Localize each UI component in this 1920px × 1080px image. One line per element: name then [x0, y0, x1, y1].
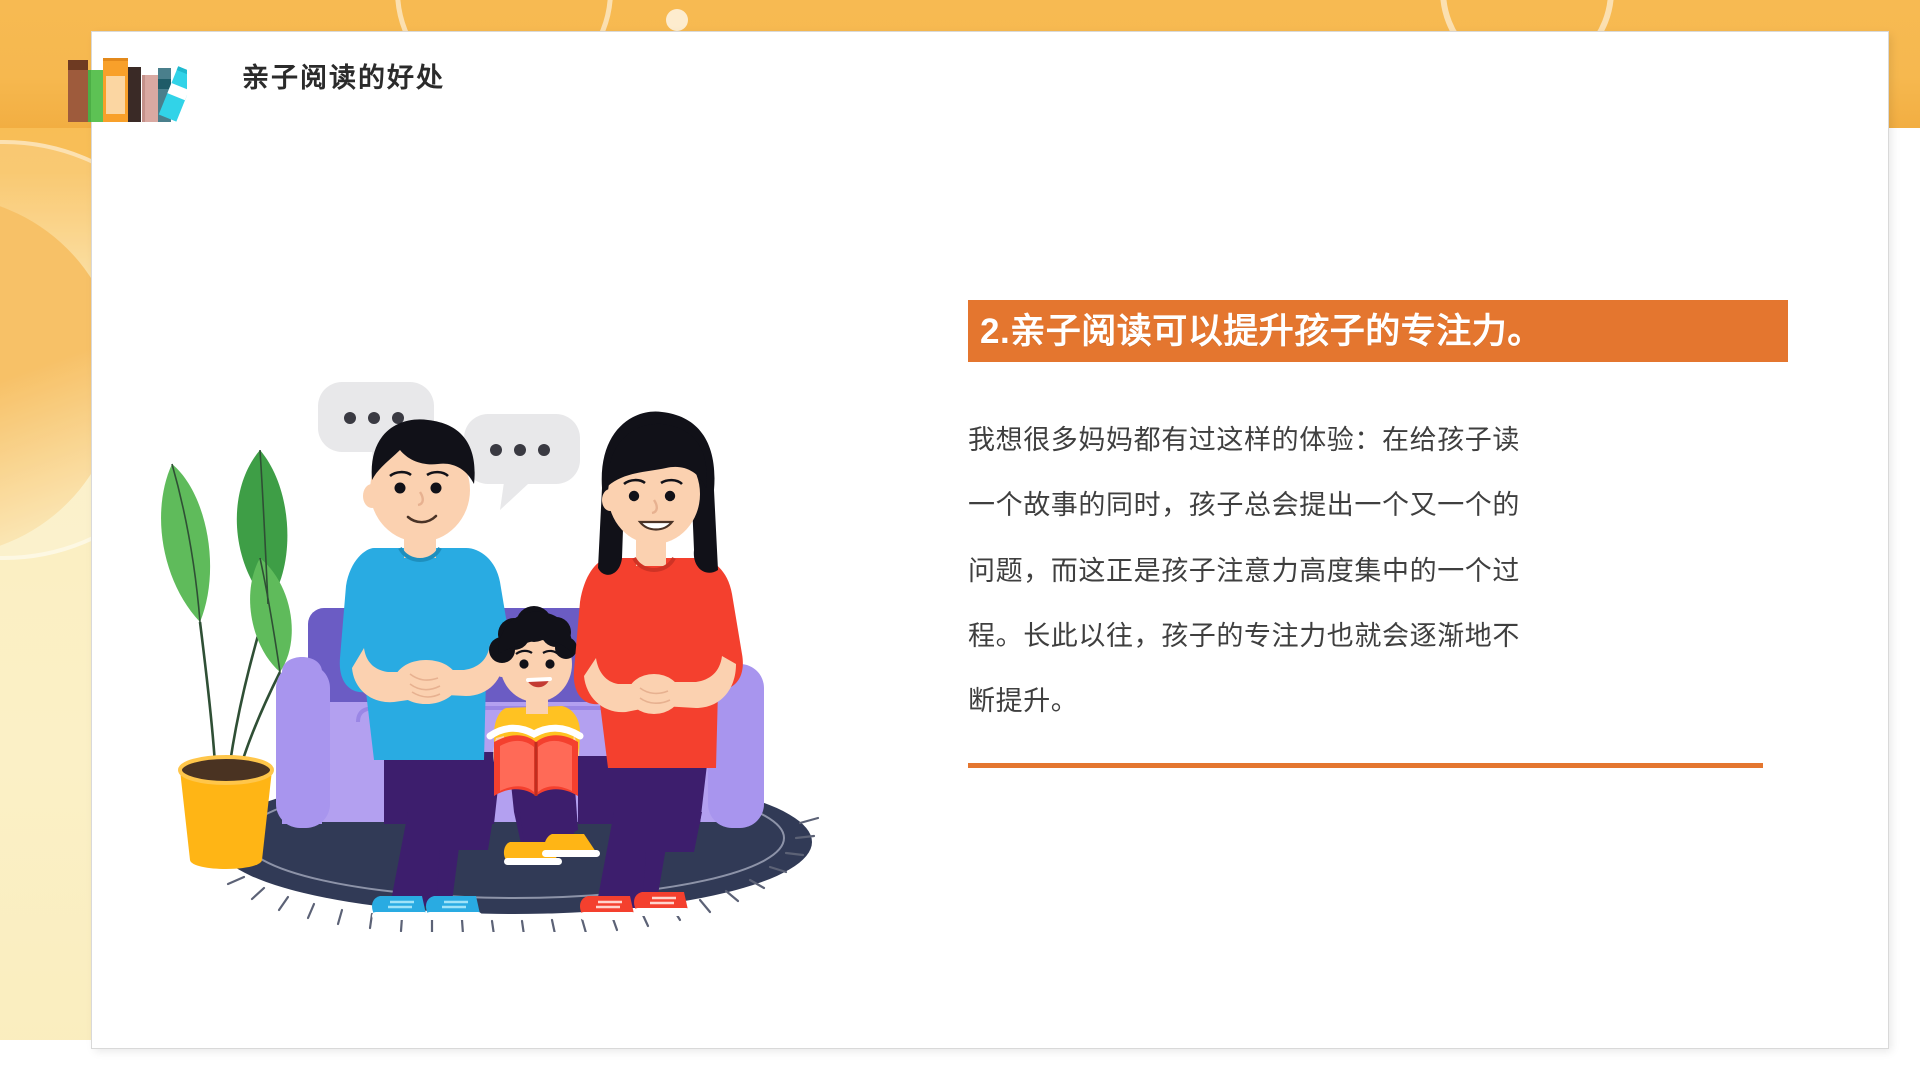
headline-text: 2.亲子阅读可以提升孩子的专注力。 — [980, 314, 1543, 349]
slide-content-card: 亲子阅读的好处 — [92, 32, 1888, 1048]
stack-of-books-icon — [59, 48, 187, 128]
presentation-slide: 亲子阅读的好处 — [0, 0, 1920, 1080]
left-decorative-strip — [0, 0, 92, 1080]
body-line: 我想很多妈妈都有过这样的体验：在给孩子读 — [968, 408, 1763, 473]
headline-banner: 2.亲子阅读可以提升孩子的专注力。 — [968, 300, 1788, 362]
body-line: 一个故事的同时，孩子总会提出一个又一个的 — [968, 473, 1763, 538]
slide-header: 亲子阅读的好处 — [92, 32, 1888, 152]
body-paragraph: 我想很多妈妈都有过这样的体验：在给孩子读 一个故事的同时，孩子总会提出一个又一个… — [968, 408, 1763, 735]
body-line: 问题，而这正是孩子注意力高度集中的一个过 — [968, 539, 1763, 604]
speech-bubble-right — [464, 414, 580, 510]
decorative-large-circle — [0, 140, 92, 560]
decorative-dot-left — [666, 9, 688, 31]
body-line: 程。长此以往，孩子的专注力也就会逐渐地不 — [968, 604, 1763, 669]
family-reading-illustration — [122, 372, 862, 932]
page-title: 亲子阅读的好处 — [242, 62, 445, 94]
accent-divider — [968, 763, 1763, 768]
body-line: 断提升。 — [968, 669, 1763, 734]
content-column: 2.亲子阅读可以提升孩子的专注力。 我想很多妈妈都有过这样的体验：在给孩子读 一… — [968, 300, 1788, 768]
